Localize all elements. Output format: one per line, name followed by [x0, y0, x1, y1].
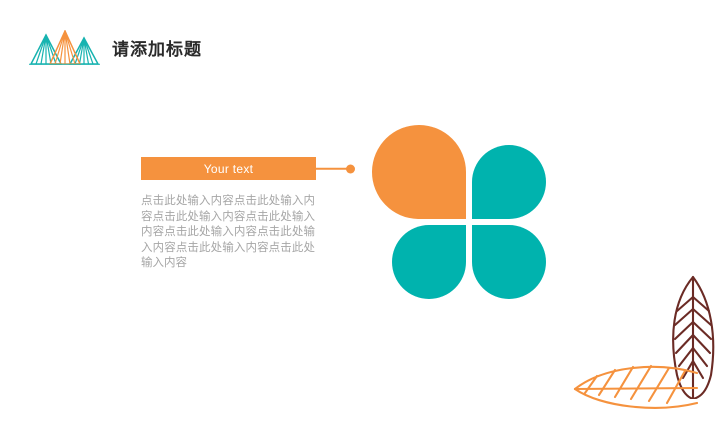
clover-petal-bottom-right — [472, 225, 546, 299]
orange-feather-leaf-icon — [571, 361, 699, 419]
clover-petal-top-left — [372, 125, 466, 219]
callout-bar[interactable]: Your text — [141, 157, 316, 180]
callout-label: Your text — [204, 163, 254, 175]
body-paragraph: 点击此处输入内容点击此处输入内容点击此处输入内容点击此处输入内容点击此处输入内容… — [141, 193, 315, 271]
page-title: 请添加标题 — [112, 41, 202, 58]
four-petal-clover-graphic — [371, 119, 567, 301]
connector-line-icon — [316, 167, 348, 170]
slide-header: 请添加标题 — [28, 30, 202, 68]
bridge-mountain-logo-icon — [28, 30, 101, 68]
clover-petal-bottom-left — [392, 225, 466, 299]
text-block: Your text 点击此处输入内容点击此处输入内容点击此处输入内容点击此处输入… — [141, 157, 353, 271]
clover-petal-top-right — [472, 145, 546, 219]
connector-dot-icon — [346, 164, 355, 173]
